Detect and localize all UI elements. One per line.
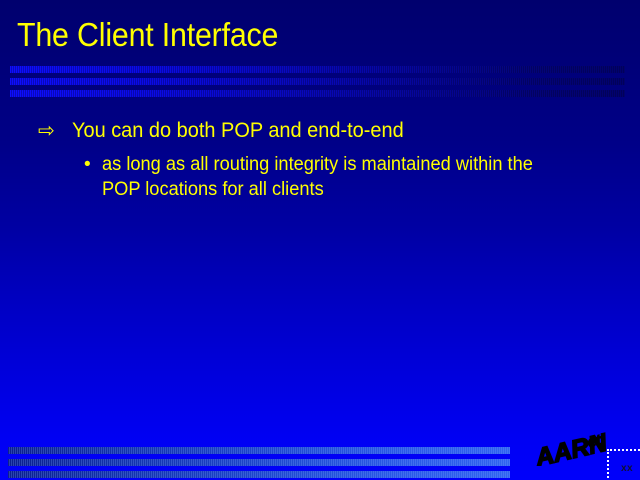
bottom-divider-bar-2 xyxy=(8,459,510,466)
aarnet-logo-icon: AARN et xyxy=(533,432,613,466)
page-title: The Client Interface xyxy=(17,16,569,54)
top-divider-bar-1 xyxy=(10,66,625,73)
right-arrow-outline-icon: ⇨ xyxy=(38,118,72,144)
top-divider-bar-3 xyxy=(10,90,625,97)
bottom-divider-bars xyxy=(8,447,510,478)
bullet-level-2-text: as long as all routing integrity is main… xyxy=(102,152,574,202)
bullet-dot-icon: • xyxy=(84,152,100,177)
page-number-box: xx xyxy=(607,449,640,480)
bottom-divider-bar-3 xyxy=(8,471,510,478)
top-divider-bar-2 xyxy=(10,78,625,85)
bullet-level-2: • as long as all routing integrity is ma… xyxy=(84,152,594,202)
bullet-level-1-text: You can do both POP and end-to-end xyxy=(72,118,404,144)
page-number: xx xyxy=(621,463,633,474)
bullet-level-1: ⇨You can do both POP and end-to-end xyxy=(38,118,618,144)
aarnet-logo: AARN et xyxy=(533,432,613,466)
top-divider-bars xyxy=(10,66,625,97)
bottom-divider-bar-1 xyxy=(8,447,510,454)
presentation-slide: The Client Interface ⇨You can do both PO… xyxy=(0,0,640,480)
